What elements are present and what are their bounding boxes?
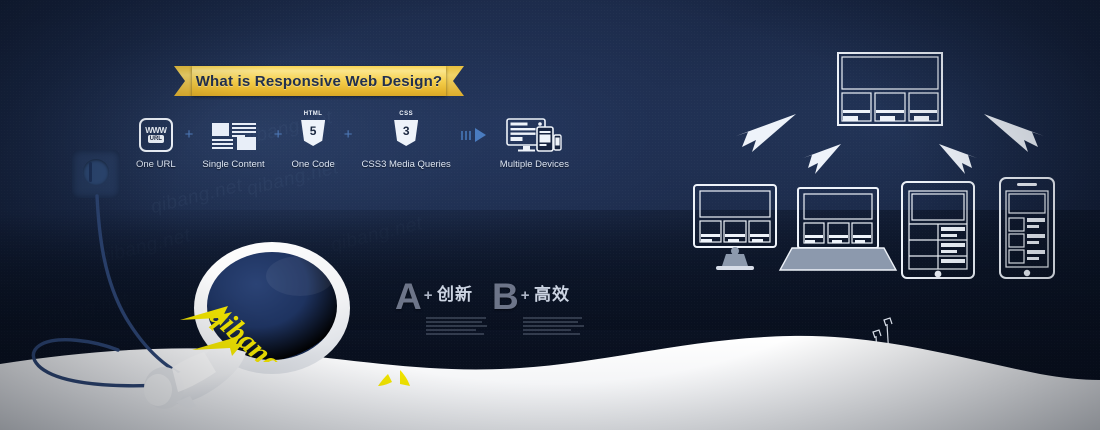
hero-banner: qibang.net qibang.net qibang.net qibang.… [0,0,1100,430]
vignette-overlay [0,0,1100,430]
